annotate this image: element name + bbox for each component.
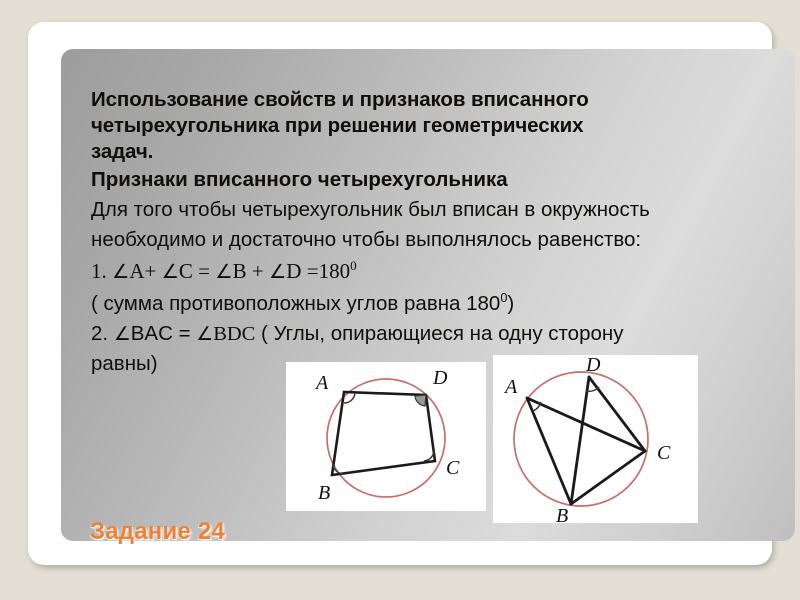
angle-symbol-b [215, 259, 232, 283]
formula-line-2: 2. BAC = BDC ( Углы, опирающиеся на одну… [91, 319, 771, 350]
vertex-label-b: B [556, 505, 568, 523]
angle-mark-d-shaded [415, 395, 426, 406]
body-line-1: Для того чтобы четырехугольник был вписа… [91, 195, 771, 225]
angle-symbol-a [112, 259, 129, 283]
vertex-label-c: C [657, 442, 671, 464]
note-close: ) [507, 292, 514, 315]
figure-inscribed-angles: D A C B [493, 355, 698, 523]
vertex-label-d: D [585, 355, 601, 376]
angle-symbol-c [162, 259, 179, 283]
formula-2-note: ( Углы, опирающиеся на одну сторону [261, 322, 623, 345]
content-panel: Использование свойств и признаков вписан… [61, 49, 795, 541]
page-title-line-3: задач. [91, 139, 771, 165]
figure-cyclic-quadrilateral: A D C B [286, 362, 486, 511]
page-title-line-1: Использование свойств и признаков вписан… [91, 87, 771, 113]
vertex-label-a: A [314, 372, 329, 394]
formula-2-right: BDC [213, 323, 255, 345]
note-line-1: ( сумма противоположных углов равна 1800… [91, 289, 771, 319]
angle-symbol-bac [114, 322, 131, 345]
formula-1-index: 1. [91, 259, 107, 283]
formula-1-term-d: D = [286, 259, 318, 283]
formula-1-term-b: B + [233, 259, 264, 283]
vertex-label-d: D [432, 367, 448, 389]
body-line-2: необходимо и достаточно чтобы выполнялос… [91, 225, 771, 255]
chord-group [527, 377, 645, 504]
segment-bc [571, 451, 645, 504]
formula-1-term-a: A+ [129, 259, 156, 283]
formula-line-1: 1. A+ C = B + D =1800 [91, 254, 771, 289]
angle-symbol-d [269, 259, 286, 283]
formula-1-term-c: C = [179, 259, 210, 283]
task-badge: Задание 24 [90, 518, 225, 546]
angle-symbol-bdc [196, 322, 213, 345]
formula-2-left: BAC = [131, 322, 191, 345]
slide-text-block: Использование свойств и признаков вписан… [91, 87, 771, 379]
section-subtitle: Признаки вписанного четырехугольника [91, 165, 771, 195]
formula-1-value: 180 [319, 259, 351, 283]
degree-symbol-1: 0 [350, 258, 357, 273]
vertex-label-c: C [446, 457, 460, 479]
vertex-label-a: A [503, 376, 518, 398]
formula-2-index: 2. [91, 322, 108, 345]
note-open: ( сумма противоположных углов равна 180 [91, 292, 500, 315]
slide-root: Использование свойств и признаков вписан… [0, 0, 800, 600]
page-title-line-2: четырехугольника при решении геометричес… [91, 113, 771, 139]
segment-db [571, 377, 589, 504]
angle-mark-c [424, 451, 434, 461]
slide-card: Использование свойств и признаков вписан… [28, 22, 772, 565]
vertex-label-b: B [318, 482, 330, 504]
